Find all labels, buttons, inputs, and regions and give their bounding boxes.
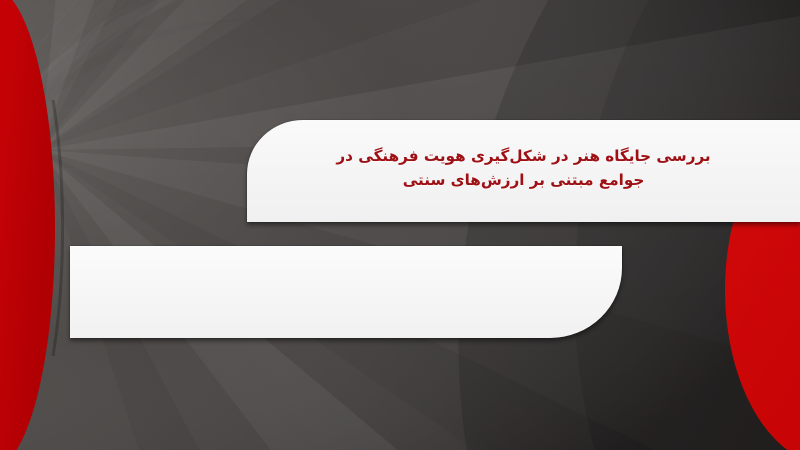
presentation-slide: بررسی جایگاه هنر در شکل‌گیری هویت فرهنگی… xyxy=(0,0,800,450)
background-decoration xyxy=(0,0,800,450)
slide-title-placeholder[interactable]: بررسی جایگاه هنر در شکل‌گیری هویت فرهنگی… xyxy=(247,120,800,222)
slide-title: بررسی جایگاه هنر در شکل‌گیری هویت فرهنگی… xyxy=(336,145,710,192)
fan-ribbon-group xyxy=(0,0,800,450)
slide-content-placeholder[interactable] xyxy=(70,246,622,338)
